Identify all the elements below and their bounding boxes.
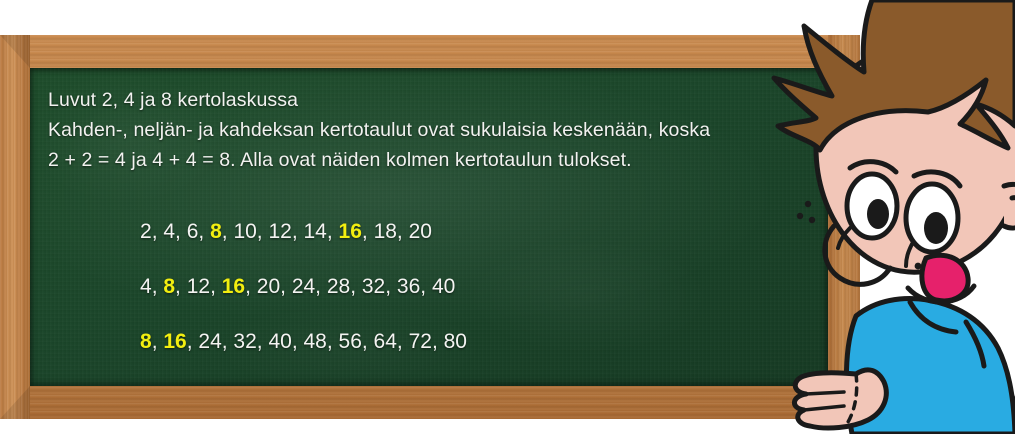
boy-eyelash-right xyxy=(906,244,912,266)
lesson-body-line-1: Kahden-, neljän- ja kahdeksan kertotaulu… xyxy=(48,115,808,145)
sequence-number: 28 xyxy=(327,275,350,298)
boy-collar xyxy=(910,302,956,332)
sequence-number: 80 xyxy=(444,330,467,353)
sequence-separator: , xyxy=(397,330,409,353)
sequence-number-highlighted: 16 xyxy=(339,220,362,243)
sequence-separator: , xyxy=(420,275,432,298)
sequence-number: 64 xyxy=(374,330,397,353)
frame-mitre-top-left xyxy=(0,35,30,68)
sequence-separator: , xyxy=(362,220,374,243)
sequence-number: 4 xyxy=(140,275,152,298)
sequence-number: 18 xyxy=(374,220,397,243)
sequence-row-table-of-8: 8, 16, 24, 32, 40, 48, 56, 64, 72, 80 xyxy=(140,328,467,355)
sequence-separator: , xyxy=(152,220,164,243)
lesson-body-line-2: 2 + 2 = 4 ja 4 + 4 = 8. Alla ovat näiden… xyxy=(48,145,808,175)
chalkboard-surface: Luvut 2, 4 ja 8 kertolaskussa Kahden-, n… xyxy=(30,68,828,386)
sequence-number: 10 xyxy=(233,220,256,243)
slide-canvas: Luvut 2, 4 ja 8 kertolaskussa Kahden-, n… xyxy=(0,0,1015,434)
sequence-separator: , xyxy=(198,220,210,243)
sequence-number: 12 xyxy=(268,220,291,243)
sequence-separator: , xyxy=(327,220,339,243)
lesson-text-block: Luvut 2, 4 ja 8 kertolaskussa Kahden-, n… xyxy=(48,85,808,175)
sequence-number: 40 xyxy=(432,275,455,298)
boy-pupil-right xyxy=(924,212,948,244)
sequence-separator: , xyxy=(222,330,234,353)
sequence-number: 48 xyxy=(303,330,326,353)
sequence-number-highlighted: 16 xyxy=(163,330,186,353)
boy-eye-right xyxy=(906,184,958,252)
sequence-number: 6 xyxy=(187,220,199,243)
sequence-separator: , xyxy=(175,220,187,243)
boy-ear xyxy=(1004,184,1015,228)
sequence-number: 24 xyxy=(198,330,221,353)
sequence-separator: , xyxy=(257,220,269,243)
sequence-number: 4 xyxy=(163,220,175,243)
sequence-separator: , xyxy=(397,220,409,243)
boy-tongue xyxy=(922,255,968,301)
sequence-separator: , xyxy=(152,330,164,353)
sequence-separator: , xyxy=(152,275,164,298)
multiplication-sequences: 2, 4, 6, 8, 10, 12, 14, 16, 18, 20 4, 8,… xyxy=(140,218,467,355)
sequence-number: 32 xyxy=(233,330,256,353)
boy-pupil-left xyxy=(867,199,889,229)
boy-sleeve-seam xyxy=(966,322,984,366)
sequence-separator: , xyxy=(280,275,292,298)
sequence-row-table-of-4: 4, 8, 12, 16, 20, 24, 28, 32, 36, 40 xyxy=(140,273,467,300)
frame-mitre-bottom-left xyxy=(0,386,30,419)
sequence-separator: , xyxy=(245,275,257,298)
boy-shirt xyxy=(846,299,1015,434)
sequence-number-highlighted: 8 xyxy=(163,275,175,298)
sequence-separator: , xyxy=(350,275,362,298)
sequence-number: 14 xyxy=(304,220,327,243)
sequence-row-table-of-2: 2, 4, 6, 8, 10, 12, 14, 16, 18, 20 xyxy=(140,218,467,245)
frame-left-stile xyxy=(0,35,30,419)
sequence-number: 20 xyxy=(409,220,432,243)
sequence-number: 12 xyxy=(187,275,210,298)
sequence-number: 56 xyxy=(339,330,362,353)
sequence-separator: , xyxy=(315,275,327,298)
boy-mouth xyxy=(908,286,974,302)
sequence-number: 72 xyxy=(409,330,432,353)
sequence-number: 32 xyxy=(362,275,385,298)
sequence-separator: , xyxy=(292,330,304,353)
sequence-separator: , xyxy=(292,220,304,243)
sequence-number-highlighted: 8 xyxy=(210,220,222,243)
sequence-number: 2 xyxy=(140,220,152,243)
sequence-separator: , xyxy=(432,330,444,353)
sequence-separator: , xyxy=(257,330,269,353)
sequence-separator: , xyxy=(210,275,222,298)
sequence-number: 24 xyxy=(292,275,315,298)
sequence-separator: , xyxy=(222,220,234,243)
sequence-separator: , xyxy=(385,275,397,298)
boy-brow-right xyxy=(914,172,960,186)
boy-arm xyxy=(904,330,1015,434)
sequence-separator: , xyxy=(327,330,339,353)
sequence-number: 36 xyxy=(397,275,420,298)
sequence-number: 20 xyxy=(257,275,280,298)
sequence-separator: , xyxy=(187,330,199,353)
frame-right-stile xyxy=(828,35,860,419)
sequence-number: 40 xyxy=(268,330,291,353)
lesson-heading: Luvut 2, 4 ja 8 kertolaskussa xyxy=(48,85,808,115)
sequence-number-highlighted: 16 xyxy=(222,275,245,298)
sequence-number-highlighted: 8 xyxy=(140,330,152,353)
sequence-separator: , xyxy=(362,330,374,353)
sequence-separator: , xyxy=(175,275,187,298)
